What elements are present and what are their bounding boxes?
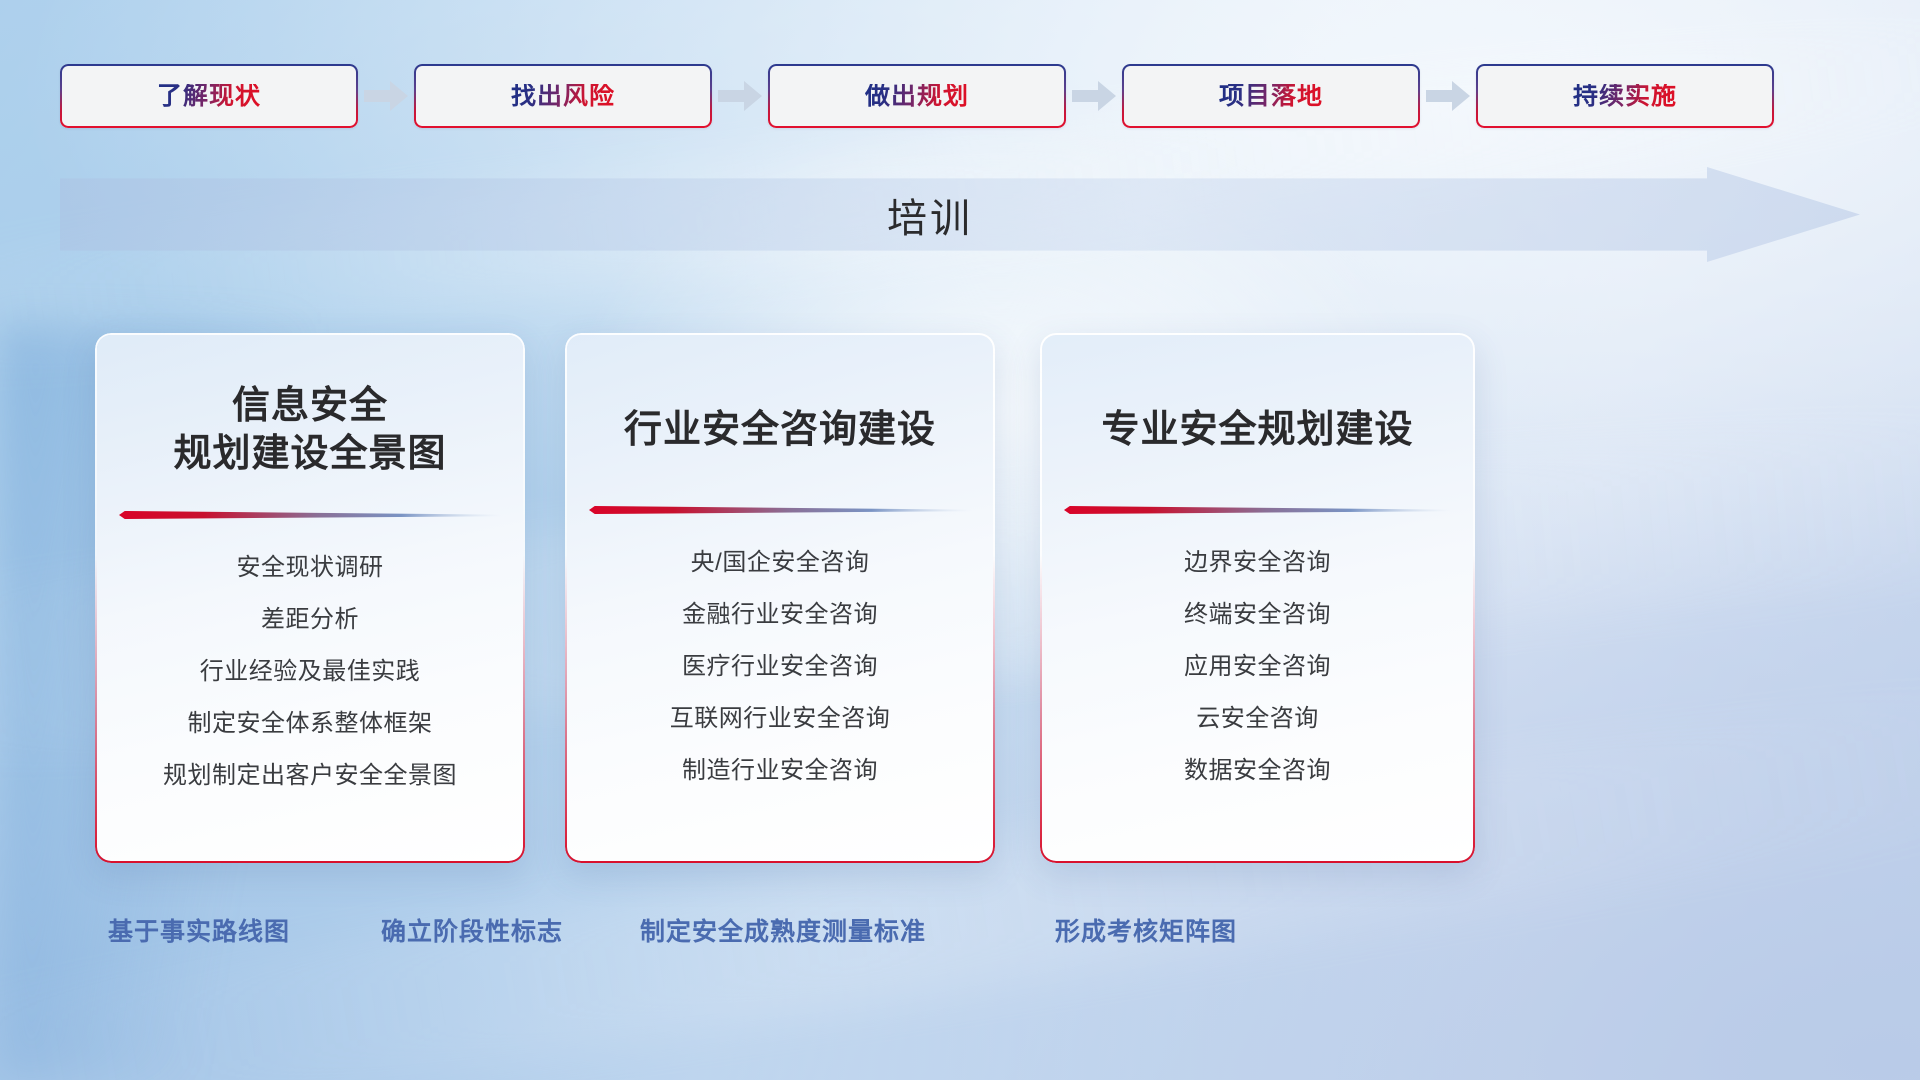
footer-label-4: 形成考核矩阵图 — [1055, 920, 1237, 945]
card-1-title-line1: 信息安全 — [232, 385, 388, 427]
card-1-item-list: 安全现状调研 差距分析 行业经验及最佳实践 制定安全体系整体框架 规划制定出客户… — [163, 556, 457, 816]
card-1-title: 信息安全 规划建设全景图 — [173, 383, 446, 478]
list-item: 终端安全咨询 — [1184, 603, 1331, 627]
card-2-title: 行业安全咨询建设 — [624, 407, 936, 455]
footer-label-1: 基于事实路线图 — [108, 920, 290, 945]
slide-stage: 了解现状 找出风险 做出规划 — [0, 0, 1920, 1080]
list-item: 安全现状调研 — [163, 556, 457, 580]
list-item: 边界安全咨询 — [1184, 551, 1331, 575]
list-item: 行业经验及最佳实践 — [163, 660, 457, 684]
list-item: 制定安全体系整体框架 — [163, 712, 457, 736]
list-item: 规划制定出客户安全全景图 — [163, 764, 457, 788]
card-professional-security-planning[interactable]: 专业安全规划建设 — [1040, 333, 1475, 863]
list-item: 互联网行业安全咨询 — [670, 707, 891, 731]
card-3-title: 专业安全规划建设 — [1101, 407, 1413, 455]
card-industry-security-consulting[interactable]: 行业安全咨询建设 — [565, 333, 995, 863]
list-item: 央/国企安全咨询 — [670, 551, 891, 575]
card-3-divider — [1042, 503, 1473, 517]
list-item: 数据安全咨询 — [1184, 759, 1331, 783]
card-1-title-line2: 规划建设全景图 — [173, 431, 446, 479]
card-2-item-list: 央/国企安全咨询 金融行业安全咨询 医疗行业安全咨询 互联网行业安全咨询 制造行… — [670, 551, 891, 811]
card-2-divider — [567, 503, 993, 517]
list-item: 云安全咨询 — [1184, 707, 1331, 731]
footer-label-2: 确立阶段性标志 — [381, 920, 563, 945]
card-1-inner: 信息安全 规划建设全景图 — [97, 335, 523, 861]
list-item: 金融行业安全咨询 — [670, 603, 891, 627]
list-item: 制造行业安全咨询 — [670, 759, 891, 783]
card-3-inner: 专业安全规划建设 — [1042, 335, 1473, 861]
card-3-item-list: 边界安全咨询 终端安全咨询 应用安全咨询 云安全咨询 数据安全咨询 — [1184, 551, 1331, 811]
card-3-title-line1: 专业安全规划建设 — [1101, 409, 1413, 451]
list-item: 应用安全咨询 — [1184, 655, 1331, 679]
list-item: 医疗行业安全咨询 — [670, 655, 891, 679]
card-information-security-blueprint[interactable]: 信息安全 规划建设全景图 — [95, 333, 525, 863]
card-2-inner: 行业安全咨询建设 — [567, 335, 993, 861]
footer-label-3: 制定安全成熟度测量标准 — [640, 920, 926, 945]
card-1-divider — [97, 508, 523, 522]
card-2-title-line1: 行业安全咨询建设 — [624, 409, 936, 451]
footer-label-row: 基于事实路线图 确立阶段性标志 制定安全成熟度测量标准 形成考核矩阵图 — [0, 920, 1920, 970]
list-item: 差距分析 — [163, 608, 457, 632]
